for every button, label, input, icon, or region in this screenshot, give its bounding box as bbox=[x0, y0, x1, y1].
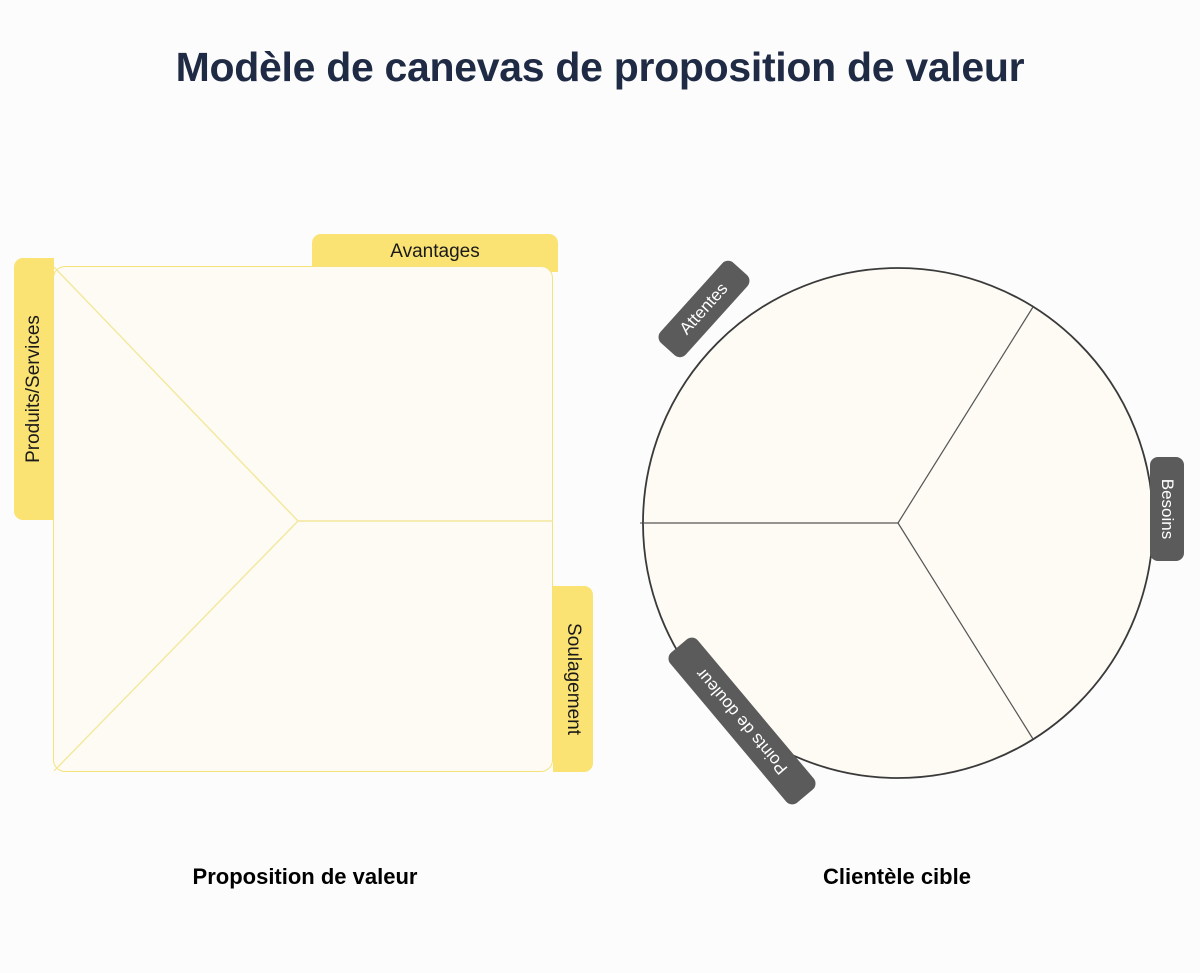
caption-proposition-de-valeur: Proposition de valeur bbox=[105, 864, 505, 890]
page-title: Modèle de canevas de proposition de vale… bbox=[150, 42, 1050, 92]
sector-label-besoins[interactable]: Besoins bbox=[1150, 457, 1184, 561]
tab-produits-services[interactable]: Produits/Services bbox=[14, 258, 54, 520]
value-proposition-square[interactable] bbox=[53, 266, 553, 772]
canvas-root: Modèle de canevas de proposition de vale… bbox=[0, 0, 1200, 973]
tab-soulagement[interactable]: Soulagement bbox=[553, 586, 593, 772]
tab-produits-services-label: Produits/Services bbox=[23, 315, 45, 463]
sector-label-besoins-text: Besoins bbox=[1157, 479, 1177, 539]
tab-soulagement-label: Soulagement bbox=[562, 623, 584, 735]
caption-clientele-cible: Clientèle cible bbox=[697, 864, 1097, 890]
tab-avantages-label: Avantages bbox=[390, 241, 479, 263]
